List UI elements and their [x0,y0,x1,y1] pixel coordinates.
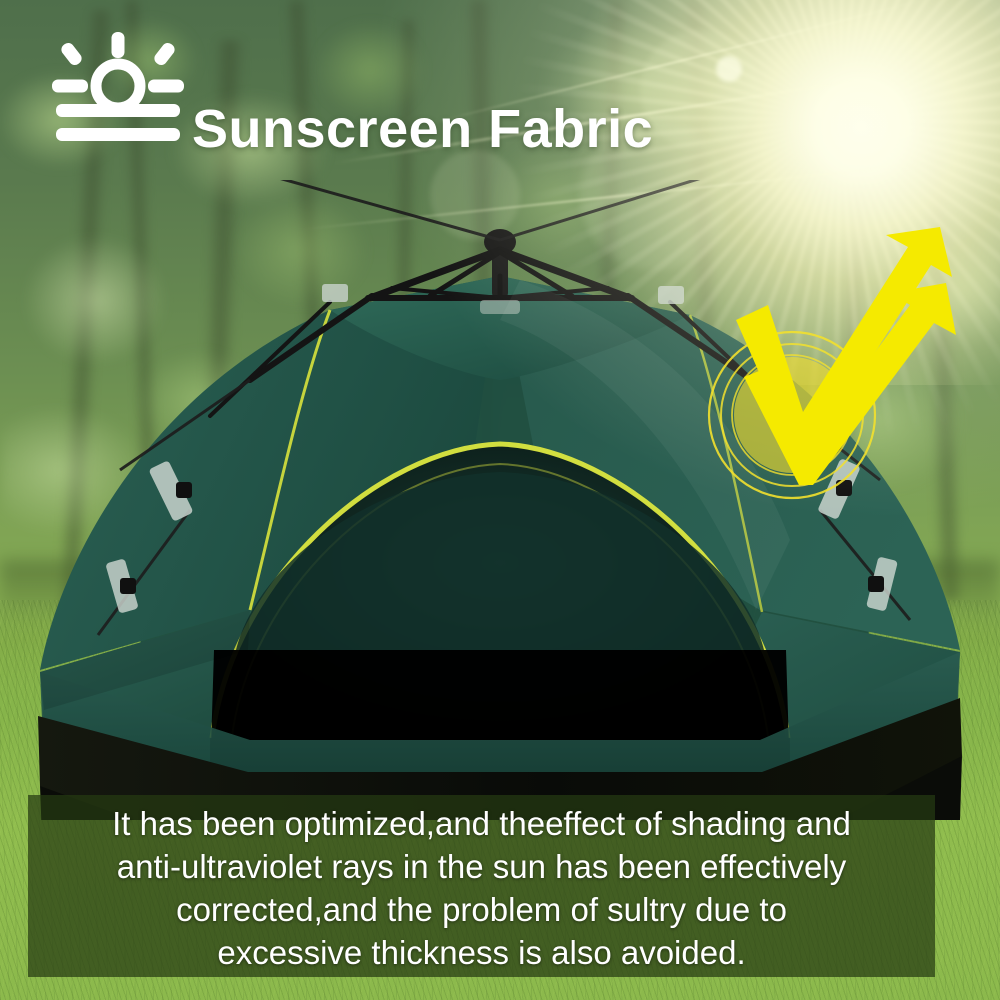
page-title: Sunscreen Fabric [192,98,653,160]
caption-line-2: anti-ultraviolet rays in the sun has bee… [117,846,846,889]
uv-reflection-indicator [700,205,990,515]
caption-line-3: corrected,and the problem of sultry due … [176,889,787,932]
caption-line-4: excessive thickness is also avoided. [217,932,745,975]
caption-line-1: It has been optimized,and theeffect of s… [112,803,851,846]
header: Sunscreen Fabric [0,0,1000,175]
caption-text: It has been optimized,and theeffect of s… [28,798,935,980]
promo-image: Sunscreen Fabric It has been optimized,a… [0,0,1000,1000]
sunrise-icon [48,30,188,160]
